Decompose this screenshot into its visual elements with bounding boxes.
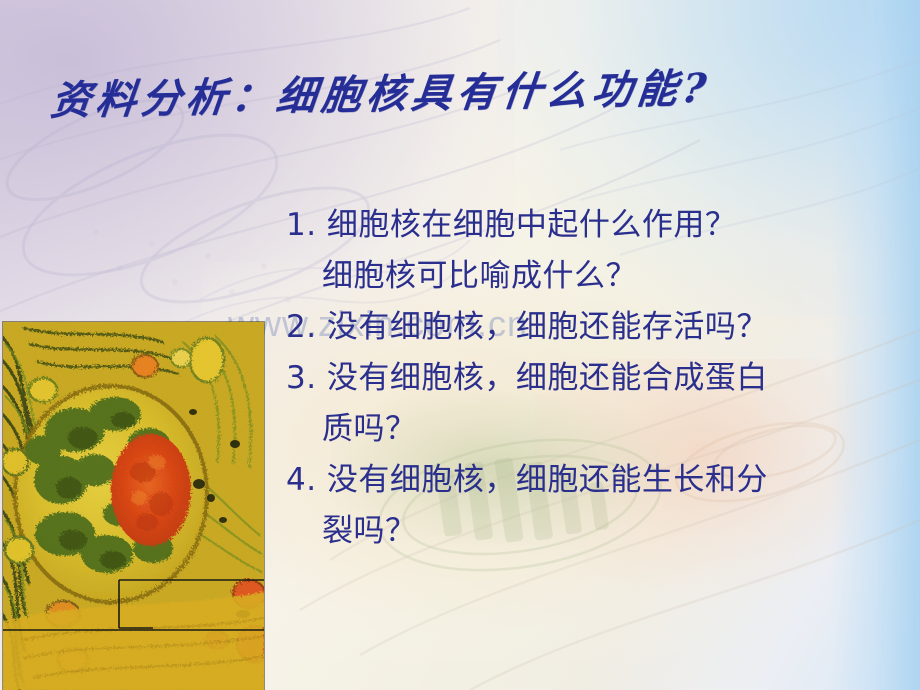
question-list: 1. 细胞核在细胞中起什么作用？ 细胞核可比喻成什么？ 2. 没有细胞核，细胞还…	[286, 200, 906, 557]
question-line: 4. 没有细胞核，细胞还能生长和分	[286, 455, 906, 506]
list-item: 4. 没有细胞核，细胞还能生长和分 裂吗？	[286, 455, 906, 557]
question-line: 裂吗？	[286, 506, 906, 557]
question-line: 2. 没有细胞核，细胞还能存活吗？	[286, 302, 906, 353]
cell-nucleus-micrograph-image	[3, 322, 264, 690]
list-item: 2. 没有细胞核，细胞还能存活吗？	[286, 302, 906, 353]
question-line: 1. 细胞核在细胞中起什么作用？	[286, 200, 906, 251]
question-line: 细胞核可比喻成什么？	[286, 251, 906, 302]
list-item: 1. 细胞核在细胞中起什么作用？ 细胞核可比喻成什么？	[286, 200, 906, 302]
question-line: 3. 没有细胞核，细胞还能合成蛋白	[286, 353, 906, 404]
presentation-slide: www.zixin.com.cn 资料分析：细胞核具有什么功能? 1. 细胞核在…	[0, 0, 920, 690]
question-line: 质吗？	[286, 404, 906, 455]
list-item: 3. 没有细胞核，细胞还能合成蛋白 质吗？	[286, 353, 906, 455]
